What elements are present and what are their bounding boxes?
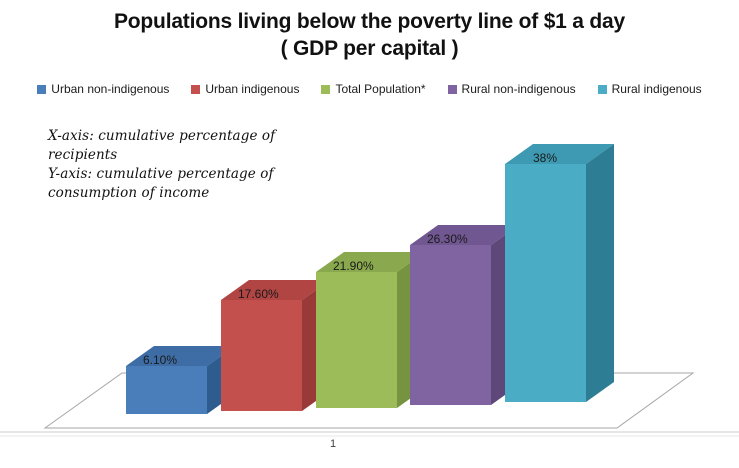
bar-rural-non-indigenous[interactable]	[410, 225, 519, 405]
legend-swatch-icon	[37, 85, 46, 94]
data-label-urban-indigenous: 17.60%	[238, 287, 279, 301]
chart-title-line-2: ( GDP per capital )	[0, 35, 739, 62]
data-label-urban-non-indigenous: 6.10%	[143, 353, 177, 367]
legend-label: Rural non-indigenous	[462, 82, 576, 96]
plot-area: 6.10% 17.60% 21.90% 26.30% 38% 1	[0, 110, 739, 468]
legend-swatch-icon	[191, 85, 200, 94]
data-label-rural-non-indigenous: 26.30%	[427, 232, 468, 246]
legend-swatch-icon	[321, 85, 330, 94]
bar-front-face	[221, 300, 302, 411]
legend-label: Urban indigenous	[205, 82, 299, 96]
legend-item-rural-non-indigenous[interactable]: Rural non-indigenous	[448, 82, 576, 96]
legend-swatch-icon	[448, 85, 457, 94]
legend-item-rural-indigenous[interactable]: Rural indigenous	[598, 82, 702, 96]
chart-legend: Urban non-indigenous Urban indigenous To…	[0, 82, 739, 96]
bar-total-population[interactable]	[316, 252, 425, 408]
legend-item-urban-indigenous[interactable]: Urban indigenous	[191, 82, 299, 96]
bar-front-face	[316, 272, 397, 408]
bar-rural-indigenous[interactable]	[505, 144, 614, 402]
chart-title: Populations living below the poverty lin…	[0, 8, 739, 62]
bar-front-face	[410, 245, 491, 405]
chart-canvas: Populations living below the poverty lin…	[0, 0, 739, 468]
data-label-total-population: 21.90%	[333, 259, 374, 273]
bar-side-face	[586, 144, 614, 402]
bar-front-face	[126, 366, 207, 414]
legend-item-urban-non-indigenous[interactable]: Urban non-indigenous	[37, 82, 169, 96]
chart-title-line-1: Populations living below the poverty lin…	[114, 10, 625, 33]
legend-label: Urban non-indigenous	[51, 82, 169, 96]
legend-item-total-population[interactable]: Total Population*	[321, 82, 425, 96]
legend-swatch-icon	[598, 85, 607, 94]
legend-label: Rural indigenous	[612, 82, 702, 96]
legend-label: Total Population*	[335, 82, 425, 96]
x-axis-category-label: 1	[330, 438, 336, 450]
plot-svg	[0, 110, 739, 468]
bar-front-face	[505, 164, 586, 402]
data-label-rural-indigenous: 38%	[533, 151, 557, 165]
